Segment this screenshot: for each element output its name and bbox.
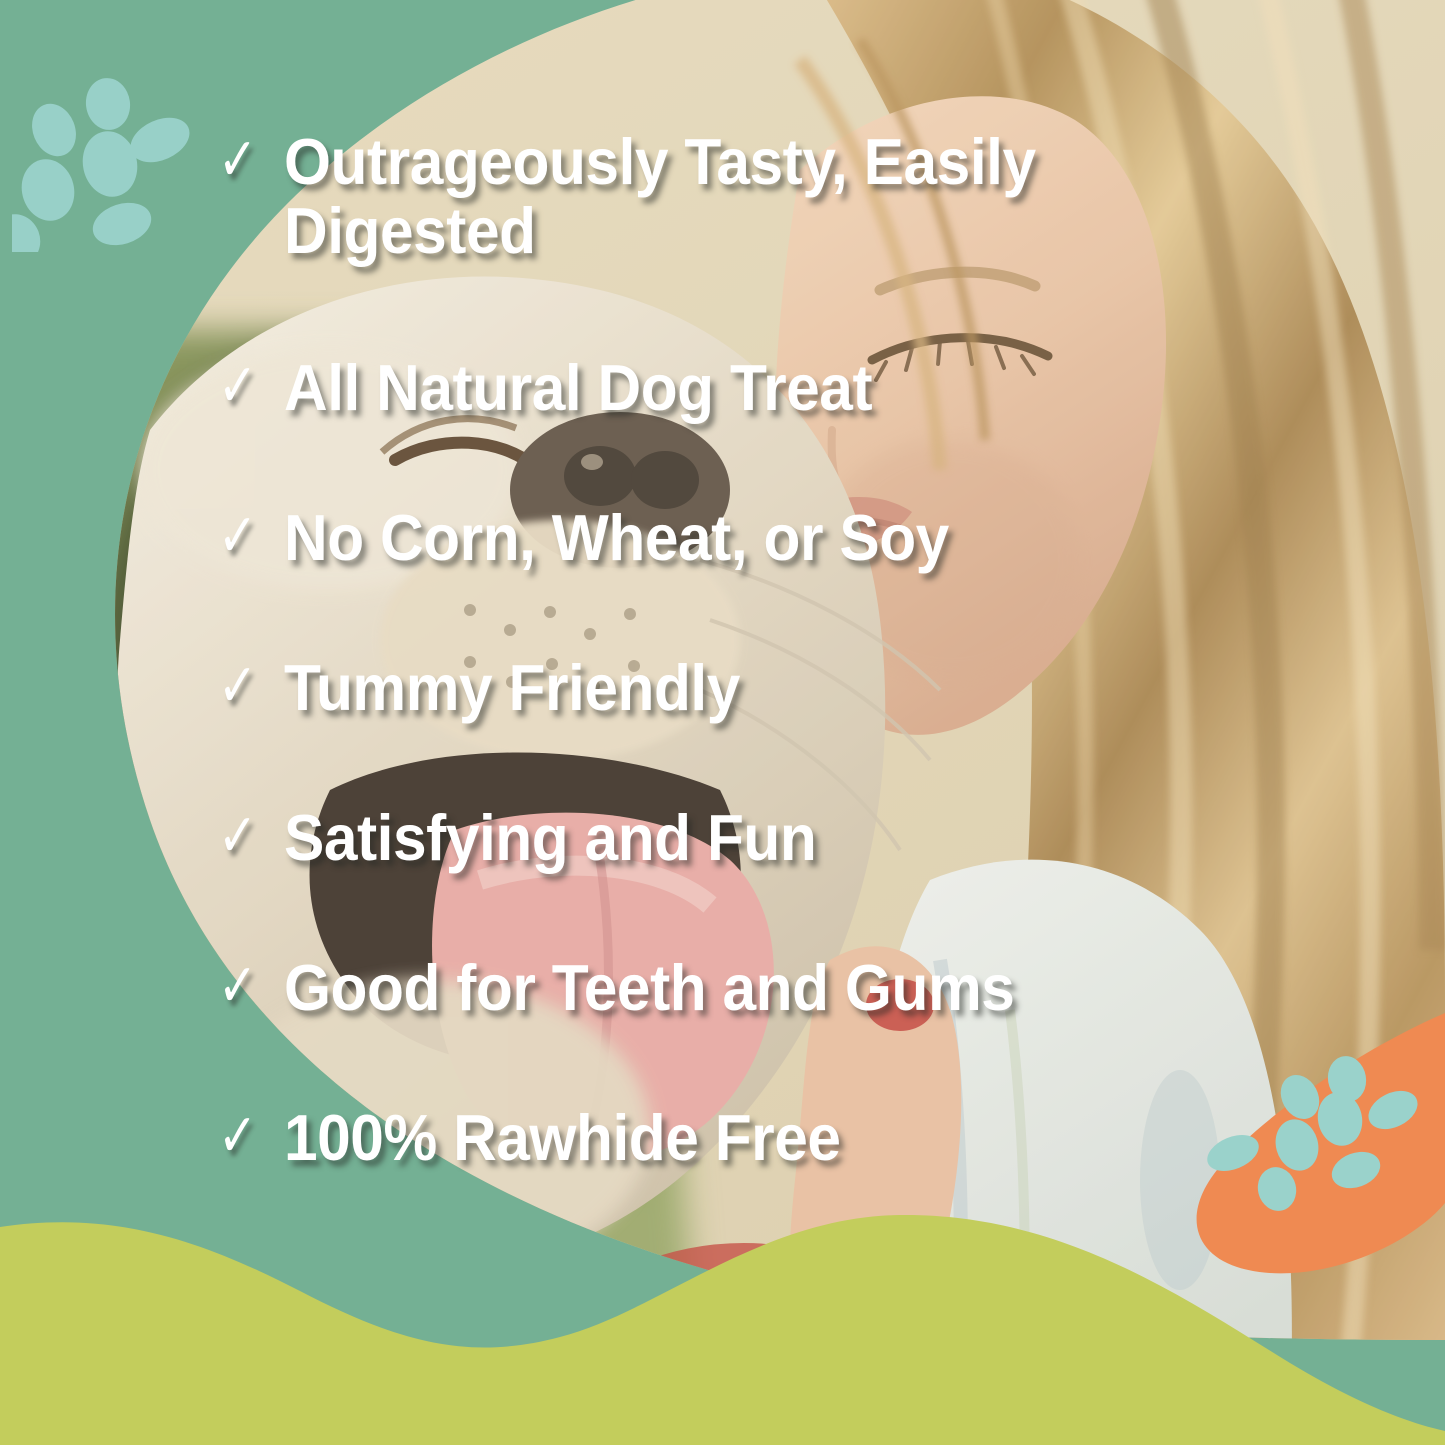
- check-icon: ✓: [218, 506, 269, 567]
- check-icon: ✓: [218, 656, 269, 717]
- benefit-item-4: ✓ Tummy Friendly: [218, 654, 1445, 804]
- benefit-item-7: ✓ 100% Rawhide Free: [218, 1104, 1445, 1254]
- benefit-label-4: Tummy Friendly: [284, 654, 1047, 723]
- check-icon: ✓: [218, 130, 269, 191]
- check-icon: ✓: [218, 1106, 269, 1167]
- benefit-label-6: Good for Teeth and Gums: [284, 954, 1047, 1023]
- check-icon: ✓: [218, 356, 269, 417]
- benefit-item-2: ✓ All Natural Dog Treat: [218, 354, 1445, 504]
- benefits-poster: ✓ Outrageously Tasty, Easily Digested ✓ …: [0, 0, 1445, 1445]
- check-icon: ✓: [218, 806, 269, 867]
- benefit-item-1: ✓ Outrageously Tasty, Easily Digested: [218, 128, 1445, 354]
- benefit-label-7: 100% Rawhide Free: [284, 1104, 1047, 1173]
- benefit-item-5: ✓ Satisfying and Fun: [218, 804, 1445, 954]
- benefit-label-5: Satisfying and Fun: [284, 804, 1047, 873]
- check-icon: ✓: [218, 956, 269, 1017]
- benefit-label-2: All Natural Dog Treat: [284, 354, 1047, 423]
- benefit-label-1: Outrageously Tasty, Easily Digested: [284, 128, 1047, 266]
- benefit-label-3: No Corn, Wheat, or Soy: [284, 504, 1047, 573]
- benefits-checklist: ✓ Outrageously Tasty, Easily Digested ✓ …: [0, 0, 1445, 1445]
- benefit-item-6: ✓ Good for Teeth and Gums: [218, 954, 1445, 1104]
- benefit-item-3: ✓ No Corn, Wheat, or Soy: [218, 504, 1445, 654]
